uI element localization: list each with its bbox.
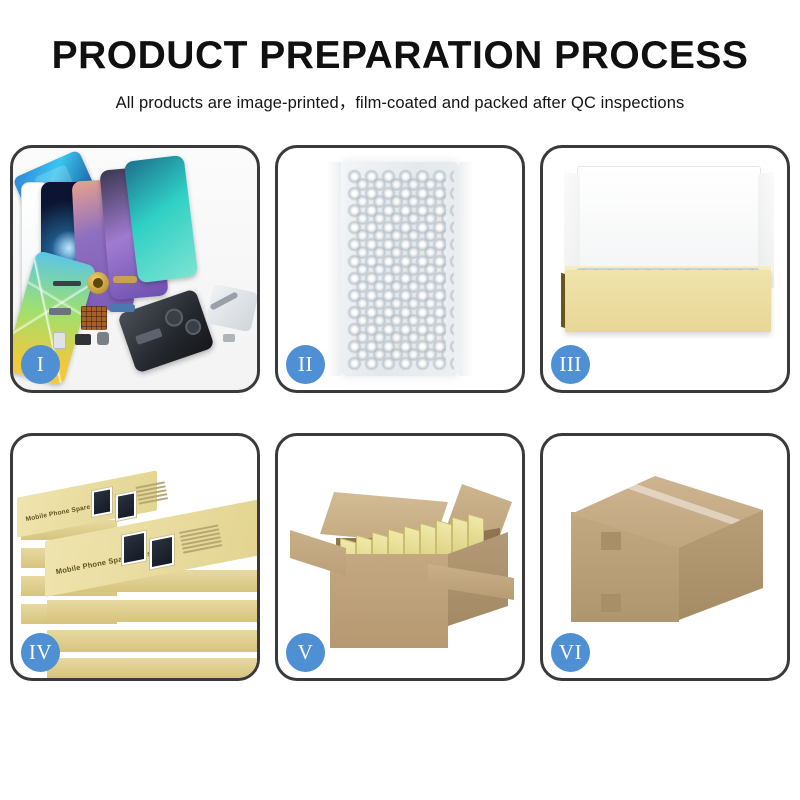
stack-right-side-3 [47,630,257,652]
step-panel-sealed-carton[interactable]: VI [540,433,790,681]
box-window-back-1 [91,486,113,518]
screw-part [223,334,235,342]
sim-tray-part [53,332,66,349]
step-badge-5: V [286,633,325,672]
box-spec-lines-back [135,481,168,506]
step-badge-1: I [21,345,60,384]
stack-right-side-4 [47,658,257,678]
stack-right-side-2 [47,600,257,622]
step-panel-bubble-wrap-pouch[interactable]: II [275,145,525,393]
process-steps-grid: I II III [10,145,790,733]
header: PRODUCT PREPARATION PROCESS All products… [0,0,800,113]
step-panel-open-carton[interactable]: V [275,433,525,681]
gold-flex-part [113,276,137,283]
step-panel-stacked-retail-boxes[interactable]: Mobile Phone Spare Parts Mobile Phone Sp… [10,433,260,681]
step-badge-3: III [551,345,590,384]
box-body [565,270,771,332]
step-badge-2: II [286,345,325,384]
step-panel-open-retail-box[interactable]: III [540,145,790,393]
connector-part [49,308,71,315]
small-chip-part [75,334,91,345]
circuit-chip-part [81,306,107,330]
page-title: PRODUCT PREPARATION PROCESS [0,0,800,78]
flex-cable-part [53,281,81,286]
carton-tab-upper [601,532,621,550]
blue-flex-part [109,304,135,312]
page-subtitle: All products are image-printed，film-coat… [0,78,800,113]
speaker-coil-part [87,272,109,294]
box-window-front-2 [149,533,175,570]
box-window-back-2 [115,490,137,522]
product-preparation-infographic: PRODUCT PREPARATION PROCESS All products… [0,0,800,800]
step-badge-4: IV [21,633,60,672]
step-panel-products-and-parts[interactable]: I [10,145,260,393]
box-window-front-1 [121,529,147,566]
camera-module-part [97,332,109,345]
carton-tab-lower [601,594,621,612]
bubble-wrap-pouch [341,162,459,376]
bubble-highlight-texture [354,176,446,362]
step-badge-6: VI [551,633,590,672]
